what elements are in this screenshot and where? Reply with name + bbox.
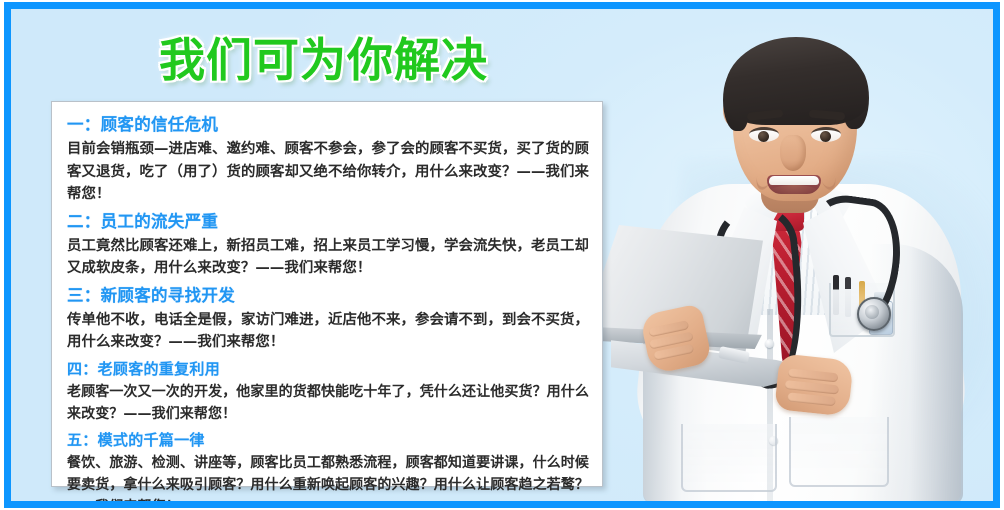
eye-right	[811, 127, 841, 142]
problem-section-4: 四：老顾客的重复利用 老顾客一次又一次的开发，他家里的货都快能吃十年了，凭什么还…	[67, 357, 589, 425]
section-heading: 一：顾客的信任危机	[67, 112, 589, 138]
page-title: 我们可为你解决	[159, 35, 488, 85]
pupil-right	[820, 131, 831, 142]
section-body: 传单他不收，电话全是假，家访门难进，近店他不来，参会请不到，到会不买货，用什么来…	[67, 309, 589, 354]
section-heading: 四：老顾客的重复利用	[67, 357, 589, 381]
doctor-hair	[725, 37, 867, 125]
section-body: 员工竟然比顾客还难上，新招员工难，招上来员工学习慢，学会流失快，老员工却又成软皮…	[67, 235, 589, 280]
section-body: 餐饮、旅游、检测、讲座等，顾客比员工都熟悉流程，顾客都知道要讲课，什么时候要卖货…	[67, 452, 589, 509]
section-heading: 二：员工的流失严重	[67, 209, 589, 235]
finger	[787, 392, 836, 406]
chin	[767, 185, 821, 203]
problem-section-5: 五：模式的千篇一律 餐饮、旅游、检测、讲座等，顾客比员工都熟悉流程，顾客都知道要…	[67, 428, 589, 509]
pupil-left	[758, 131, 769, 142]
section-heading: 五：模式的千篇一律	[67, 428, 589, 452]
problem-section-3: 三：新顾客的寻找开发 传单他不收，电话全是假，家访门难进，近店他不来，参会请不到…	[67, 283, 589, 354]
content-card: 一：顾客的信任危机 目前会销瓶颈—进店难、邀约难、顾客不参会，参了会的顾客不买货…	[51, 101, 603, 487]
doctor-photo	[571, 9, 1000, 501]
stethoscope-diaphragm	[865, 305, 879, 319]
problem-section-1: 一：顾客的信任危机 目前会销瓶颈—进店难、邀约难、顾客不参会，参了会的顾客不买货…	[67, 112, 589, 206]
section-heading: 三：新顾客的寻找开发	[67, 283, 589, 309]
nose	[780, 135, 806, 171]
teeth	[769, 176, 819, 185]
promo-banner: 我们可为你解决 一：顾客的信任危机 目前会销瓶颈—进店难、邀约难、顾客不参会，参…	[0, 0, 1004, 510]
section-body: 老顾客一次又一次的开发，他家里的货都快能吃十年了，凭什么还让他买货？用什么来改变…	[67, 381, 589, 425]
problem-section-2: 二：员工的流失严重 员工竟然比顾客还难上，新招员工难，招上来员工学习慢，学会流失…	[67, 209, 589, 280]
hand-right	[774, 353, 853, 416]
eye-left	[749, 127, 779, 142]
banner-frame: 我们可为你解决 一：顾客的信任危机 目前会销瓶颈—进店难、邀约难、顾客不参会，参…	[4, 2, 1000, 508]
coat-pocket-right	[789, 417, 889, 487]
section-body: 目前会销瓶颈—进店难、邀约难、顾客不参会，参了会的顾客不买货，买了货的顾客又退货…	[67, 138, 589, 206]
coat-pocket-left	[681, 424, 777, 492]
